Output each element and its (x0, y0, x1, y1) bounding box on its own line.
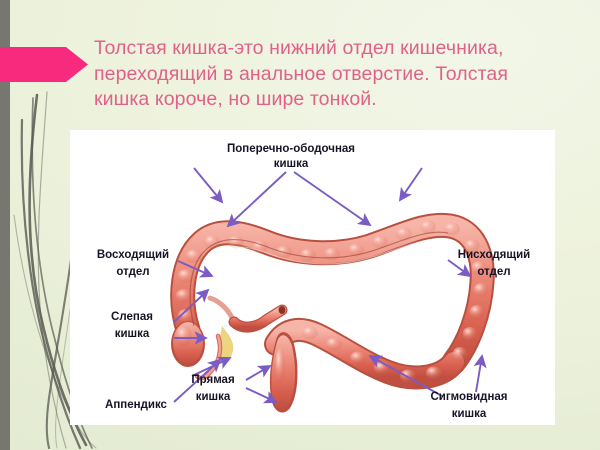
label-descending-line-1: Нисходящий (458, 249, 530, 261)
label-cecum-line-2: кишка (115, 328, 150, 340)
label-ascending-line-2: отдел (116, 266, 149, 278)
label-ascending-line-1: Восходящий (97, 249, 169, 261)
label-transverse-line-2: кишка (274, 158, 309, 170)
headline-line-3: кишка короче, но шире тонкой. (94, 87, 564, 113)
accent-arrow-banner (0, 45, 88, 84)
label-cecum-line-1: Слепая (111, 311, 153, 323)
slide-canvas: Толстая кишка-это нижний отдел кишечника… (0, 0, 600, 450)
label-rectum-line-2: кишка (196, 391, 231, 403)
label-appendix: Аппендикс (105, 399, 168, 411)
anatomy-figure-panel: Поперечно-ободочная кишка Восходящий отд… (70, 130, 555, 425)
label-sigmoid-line-1: Сигмовидная (430, 391, 507, 403)
headline-line-1: Толстая кишка-это нижний отдел кишечника… (94, 36, 564, 62)
headline-text: Толстая кишка-это нижний отдел кишечника… (94, 36, 564, 113)
headline-line-2: переходящий в анальное отверстие. Толста… (94, 62, 564, 88)
label-transverse-line-1: Поперечно-ободочная (227, 143, 355, 155)
label-rectum-line-1: Прямая (191, 374, 234, 386)
label-sigmoid-line-2: кишка (452, 408, 487, 420)
label-descending-line-2: отдел (477, 266, 510, 278)
large-intestine-diagram: Поперечно-ободочная кишка Восходящий отд… (70, 130, 555, 425)
